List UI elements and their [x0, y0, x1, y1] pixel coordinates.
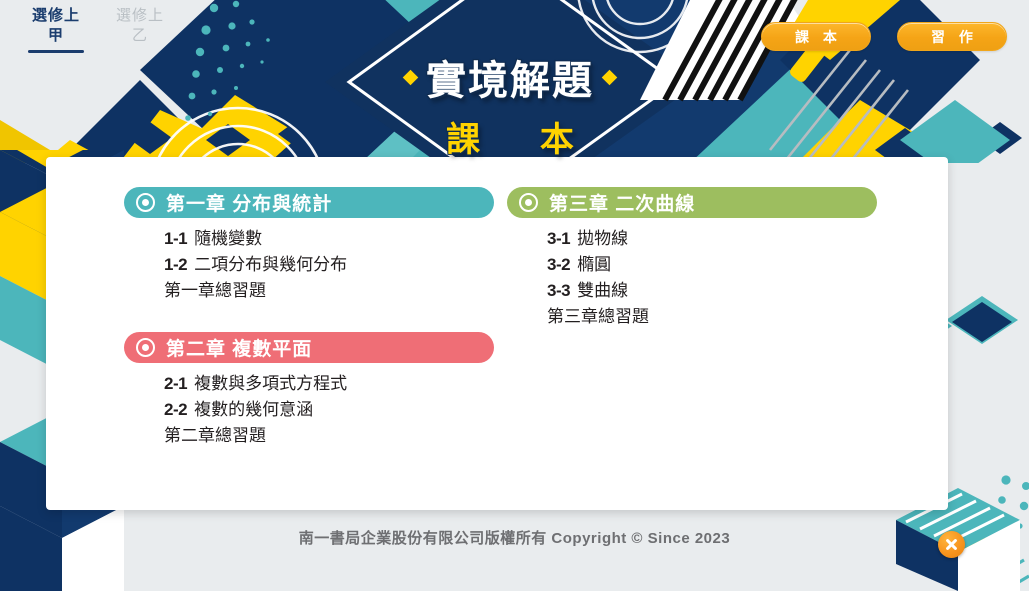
item-label: 雙曲線	[577, 281, 628, 300]
chapter-1-items: 1-1隨機變數 1-2二項分布與幾何分布 第一章總習題	[124, 226, 475, 304]
chapter-2-header[interactable]: 第二章 複數平面	[124, 332, 494, 363]
list-item[interactable]: 2-1複數與多項式方程式	[164, 371, 475, 397]
page-subtitle: 課 本	[422, 112, 598, 161]
chapter-3: 第三章 二次曲線 3-1拋物線 3-2橢圓 3-3雙曲線 第三章總習題	[507, 187, 918, 330]
item-number: 2-2	[164, 400, 187, 419]
list-item[interactable]: 3-3雙曲線	[547, 278, 918, 304]
top-right-button-group: 課 本 習 作	[761, 22, 1007, 51]
page-title: 實境解題	[426, 48, 594, 106]
chapter-1-header[interactable]: 第一章 分布與統計	[124, 187, 494, 218]
item-number: 1-2	[164, 255, 187, 274]
item-label: 第一章總習題	[164, 281, 266, 300]
item-number: 1-1	[164, 229, 187, 248]
item-label: 第三章總習題	[547, 307, 649, 326]
bullseye-icon	[519, 193, 538, 212]
chapter-list-card: 第一章 分布與統計 1-1隨機變數 1-2二項分布與幾何分布 第一章總習題 第二…	[46, 157, 948, 510]
list-item[interactable]: 2-2複數的幾何意涵	[164, 397, 475, 423]
tab-label-line1: 選修上	[106, 6, 174, 26]
tab-active-underline	[28, 50, 84, 53]
bullseye-icon	[136, 338, 155, 357]
list-item[interactable]: 第三章總習題	[547, 304, 918, 330]
item-label: 複數與多項式方程式	[194, 374, 347, 393]
tab-xuanxiu-shang-jia[interactable]: 選修上 甲	[22, 6, 90, 53]
item-label: 隨機變數	[194, 229, 262, 248]
copyright-footer: 南一書局企業股份有限公司版權所有 Copyright © Since 2023	[0, 527, 1029, 548]
item-number: 3-1	[547, 229, 570, 248]
item-number: 3-3	[547, 281, 570, 300]
chapter-column-right: 第三章 二次曲線 3-1拋物線 3-2橢圓 3-3雙曲線 第三章總習題	[497, 187, 948, 510]
close-button[interactable]	[938, 531, 965, 558]
chapter-column-left: 第一章 分布與統計 1-1隨機變數 1-2二項分布與幾何分布 第一章總習題 第二…	[46, 187, 497, 510]
item-label: 第二章總習題	[164, 426, 266, 445]
chapter-1-title: 第一章 分布與統計	[166, 189, 332, 216]
list-item[interactable]: 3-2橢圓	[547, 252, 918, 278]
chapter-3-title: 第三章 二次曲線	[549, 189, 695, 216]
chapter-3-header[interactable]: 第三章 二次曲線	[507, 187, 877, 218]
item-label: 複數的幾何意涵	[194, 400, 313, 419]
list-item[interactable]: 第一章總習題	[164, 278, 475, 304]
book-volume-tabs[interactable]: 選修上 甲 選修上 乙	[22, 6, 174, 53]
list-item[interactable]: 第二章總習題	[164, 423, 475, 449]
title-lockup: 實境解題 課 本	[330, 0, 690, 163]
close-icon	[944, 537, 959, 552]
chapter-2: 第二章 複數平面 2-1複數與多項式方程式 2-2複數的幾何意涵 第二章總習題	[124, 332, 475, 449]
item-label: 拋物線	[577, 229, 628, 248]
tab-label-line2: 甲	[22, 26, 90, 46]
title-main-row: 實境解題	[405, 48, 615, 106]
chapter-1: 第一章 分布與統計 1-1隨機變數 1-2二項分布與幾何分布 第一章總習題	[124, 187, 475, 304]
chapter-3-items: 3-1拋物線 3-2橢圓 3-3雙曲線 第三章總習題	[507, 226, 918, 330]
workbook-button[interactable]: 習 作	[897, 22, 1007, 51]
tab-label-line2: 乙	[106, 26, 174, 46]
tab-label-line1: 選修上	[22, 6, 90, 26]
item-label: 橢圓	[577, 255, 611, 274]
textbook-button[interactable]: 課 本	[761, 22, 871, 51]
item-label: 二項分布與幾何分布	[194, 255, 347, 274]
tab-xuanxiu-shang-yi[interactable]: 選修上 乙	[106, 6, 174, 53]
list-item[interactable]: 1-2二項分布與幾何分布	[164, 252, 475, 278]
list-item[interactable]: 1-1隨機變數	[164, 226, 475, 252]
item-number: 3-2	[547, 255, 570, 274]
diamond-bullet-right-icon	[602, 69, 618, 85]
chapter-2-items: 2-1複數與多項式方程式 2-2複數的幾何意涵 第二章總習題	[124, 371, 475, 449]
chapter-2-title: 第二章 複數平面	[166, 334, 312, 361]
list-item[interactable]: 3-1拋物線	[547, 226, 918, 252]
diamond-bullet-left-icon	[403, 69, 419, 85]
bullseye-icon	[136, 193, 155, 212]
item-number: 2-1	[164, 374, 187, 393]
